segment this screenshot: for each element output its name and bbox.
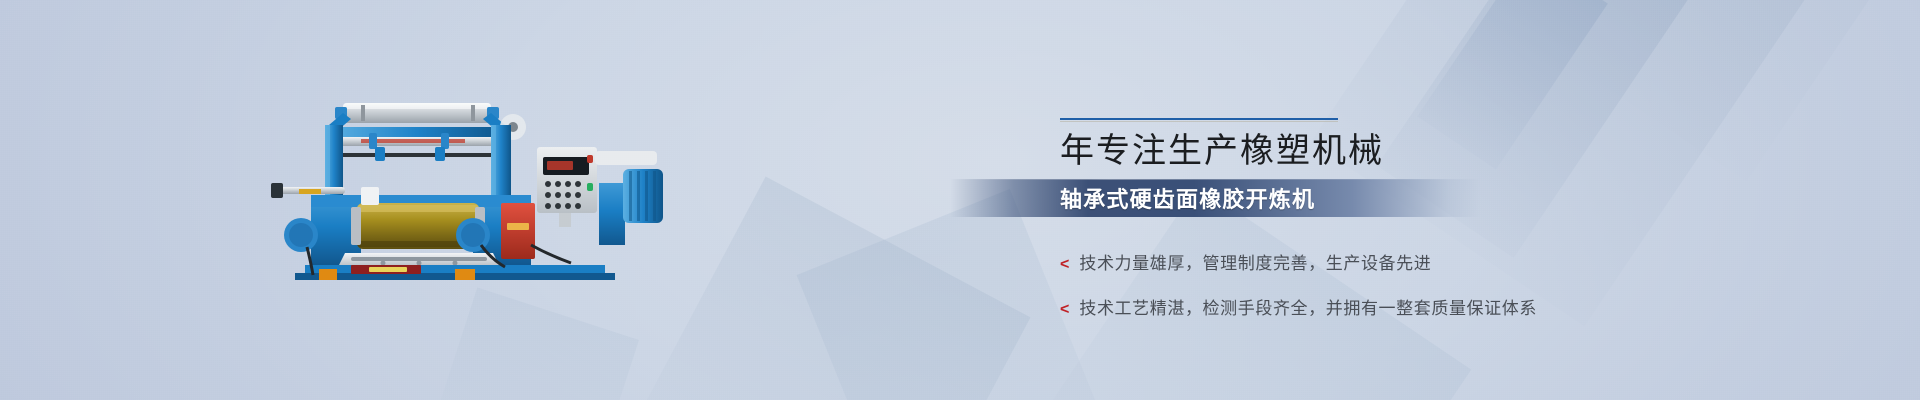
subtitle-text: 轴承式硬齿面橡胶开炼机 [950,182,1315,214]
page-title: 年专注生产橡塑机械 [1060,131,1680,171]
hero-banner: 年专注生产橡塑机械 轴承式硬齿面橡胶开炼机 < 技术力量雄厚，管理制度完善，生产… [0,0,1920,400]
headline-rule [1060,118,1338,122]
chevron-left-icon: < [1060,302,1069,318]
list-item: < 技术力量雄厚，管理制度完善，生产设备先进 [1060,249,1680,274]
list-item: < 技术工艺精湛，检测手段齐全，并拥有一整套质量保证体系 [1060,294,1680,319]
feature-list: < 技术力量雄厚，管理制度完善，生产设备先进 < 技术工艺精湛，检测手段齐全，并… [1060,249,1680,319]
list-item-label: 技术工艺精湛，检测手段齐全，并拥有一整套质量保证体系 [1079,294,1537,319]
bg-polygon-bottom-4 [431,287,639,400]
product-image-rubber-mixing-mill [265,95,665,280]
subtitle-banner: 轴承式硬齿面橡胶开炼机 [950,179,1480,217]
chevron-left-icon: < [1060,257,1069,273]
list-item-label: 技术力量雄厚，管理制度完善，生产设备先进 [1079,249,1431,274]
banner-text-block: 年专注生产橡塑机械 轴承式硬齿面橡胶开炼机 < 技术力量雄厚，管理制度完善，生产… [1060,118,1680,339]
